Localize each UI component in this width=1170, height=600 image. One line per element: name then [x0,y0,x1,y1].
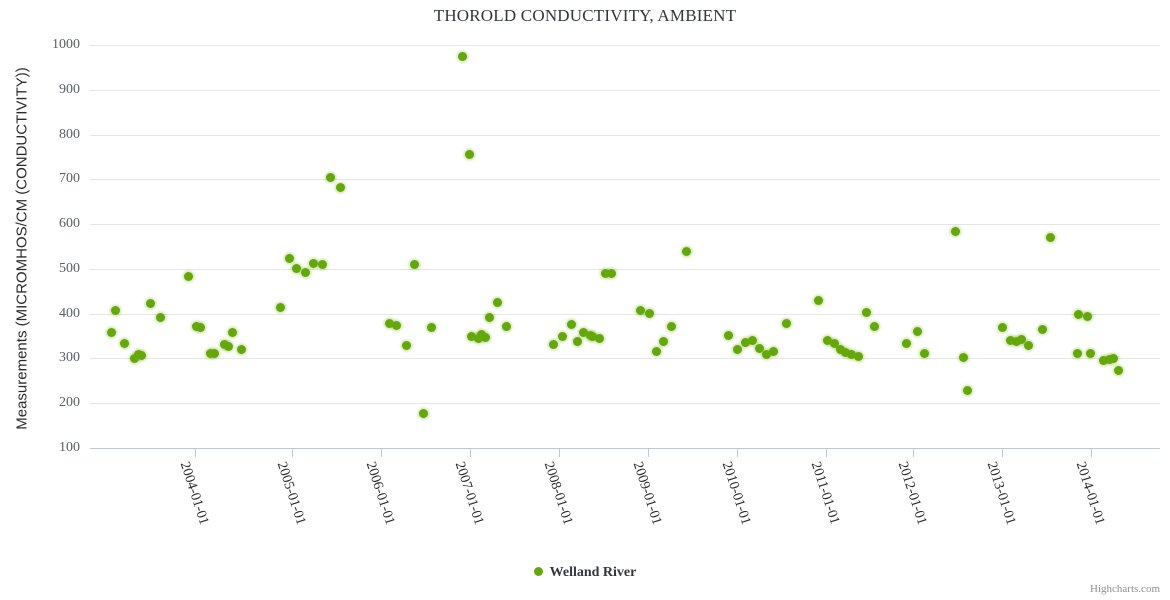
gridline [90,135,1160,136]
data-point[interactable] [326,173,335,182]
data-point[interactable] [210,349,219,358]
data-point[interactable] [1046,233,1055,242]
data-point[interactable] [481,333,490,342]
data-point[interactable] [146,299,155,308]
data-point[interactable] [782,319,791,328]
data-point[interactable] [607,269,616,278]
data-point[interactable] [493,298,502,307]
data-point[interactable] [854,352,863,361]
gridline [90,314,1160,315]
data-point[interactable] [237,345,246,354]
gridline [90,90,1160,91]
data-point[interactable] [724,331,733,340]
y-axis-tick-labels: 1000900800700600500400300200100 [15,45,80,448]
data-point[interactable] [573,337,582,346]
gridline [90,269,1160,270]
x-axis-tick [381,448,382,457]
data-point[interactable] [549,340,558,349]
data-point[interactable] [318,260,327,269]
x-axis-tick-label: 2014-01-01 [1072,460,1107,527]
data-point[interactable] [667,322,676,331]
data-point[interactable] [913,327,922,336]
x-axis-tick-label: 2006-01-01 [362,460,397,527]
x-axis-tick-label: 2013-01-01 [983,460,1018,527]
y-axis-tick-label: 500 [20,261,80,277]
data-point[interactable] [392,321,401,330]
data-point[interactable] [1114,366,1123,375]
x-axis-tick-label: 2004-01-01 [176,460,211,527]
legend-item-label: Welland River [550,565,637,580]
y-axis-tick-label: 200 [20,395,80,411]
data-point[interactable] [301,268,310,277]
data-point[interactable] [228,328,237,337]
gridline [90,403,1160,404]
data-point[interactable] [292,264,301,273]
x-axis-tick-label: 2008-01-01 [540,460,575,527]
data-point[interactable] [485,313,494,322]
gridline [90,45,1160,46]
data-point[interactable] [1074,310,1083,319]
x-axis-tick [195,448,196,457]
data-point[interactable] [769,347,778,356]
gridline [90,358,1160,359]
x-axis-tick [913,448,914,457]
y-axis-tick-label: 900 [20,82,80,98]
y-axis-tick-label: 1000 [20,37,80,53]
data-point[interactable] [410,260,419,269]
data-point[interactable] [402,341,411,350]
x-axis-tick-label: 2011-01-01 [807,460,842,527]
data-point[interactable] [1024,341,1033,350]
data-point[interactable] [427,323,436,332]
data-point[interactable] [659,337,668,346]
x-axis-tick-label: 2012-01-01 [894,460,929,527]
data-point[interactable] [309,259,318,268]
data-point[interactable] [951,227,960,236]
data-point[interactable] [196,323,205,332]
data-point[interactable] [285,254,294,263]
data-point[interactable] [184,272,193,281]
chart-title: THOROLD CONDUCTIVITY, AMBIENT [0,6,1170,26]
data-point[interactable] [419,409,428,418]
data-point[interactable] [652,347,661,356]
data-point[interactable] [748,336,757,345]
data-point[interactable] [733,345,742,354]
x-axis-line [90,448,1160,449]
data-point[interactable] [1086,349,1095,358]
x-axis-tick [1002,448,1003,457]
data-point[interactable] [276,303,285,312]
data-point[interactable] [336,183,345,192]
data-point[interactable] [862,308,871,317]
y-axis-tick-label: 800 [20,127,80,143]
data-point[interactable] [502,322,511,331]
x-axis-tick-label: 2010-01-01 [718,460,753,527]
highcharts-credits-link[interactable]: Highcharts.com [1090,583,1160,595]
data-point[interactable] [1083,312,1092,321]
data-point[interactable] [558,332,567,341]
data-point[interactable] [137,351,146,360]
x-axis-tick [826,448,827,457]
data-point[interactable] [111,306,120,315]
x-axis-tick-label: 2007-01-01 [451,460,486,527]
data-point[interactable] [107,328,116,337]
gridline [90,224,1160,225]
data-point[interactable] [156,313,165,322]
data-point[interactable] [224,342,233,351]
x-axis-tick [1091,448,1092,457]
legend-marker-icon [534,567,543,576]
x-axis-tick [559,448,560,457]
data-point[interactable] [567,320,576,329]
data-point[interactable] [1109,354,1118,363]
y-axis-tick-label: 600 [20,216,80,232]
data-point[interactable] [902,339,911,348]
data-point[interactable] [120,339,129,348]
legend-item-welland-river[interactable]: Welland River [534,565,637,581]
data-point[interactable] [920,349,929,358]
data-point[interactable] [636,306,645,315]
x-axis-tick [648,448,649,457]
y-axis-tick-label: 100 [20,440,80,456]
data-point[interactable] [1073,349,1082,358]
data-point[interactable] [645,309,654,318]
data-point[interactable] [595,334,604,343]
data-point[interactable] [465,150,474,159]
scatter-chart: THOROLD CONDUCTIVITY, AMBIENT Measuremen… [0,0,1170,600]
data-point[interactable] [959,353,968,362]
data-point[interactable] [458,52,467,61]
x-axis-tick [737,448,738,457]
y-axis-tick-label: 400 [20,306,80,322]
data-point[interactable] [814,296,823,305]
y-axis-tick-label: 300 [20,350,80,366]
data-point[interactable] [1038,325,1047,334]
x-axis-tick [470,448,471,457]
x-axis-tick-label: 2009-01-01 [629,460,664,527]
y-axis-tick-label: 700 [20,171,80,187]
x-axis-tick-label: 2005-01-01 [273,460,308,527]
plot-area [90,45,1160,448]
data-point[interactable] [963,386,972,395]
data-point[interactable] [998,323,1007,332]
data-point[interactable] [870,322,879,331]
chart-legend: Welland River [0,563,1170,581]
gridline [90,179,1160,180]
x-axis-tick [292,448,293,457]
data-point[interactable] [682,247,691,256]
